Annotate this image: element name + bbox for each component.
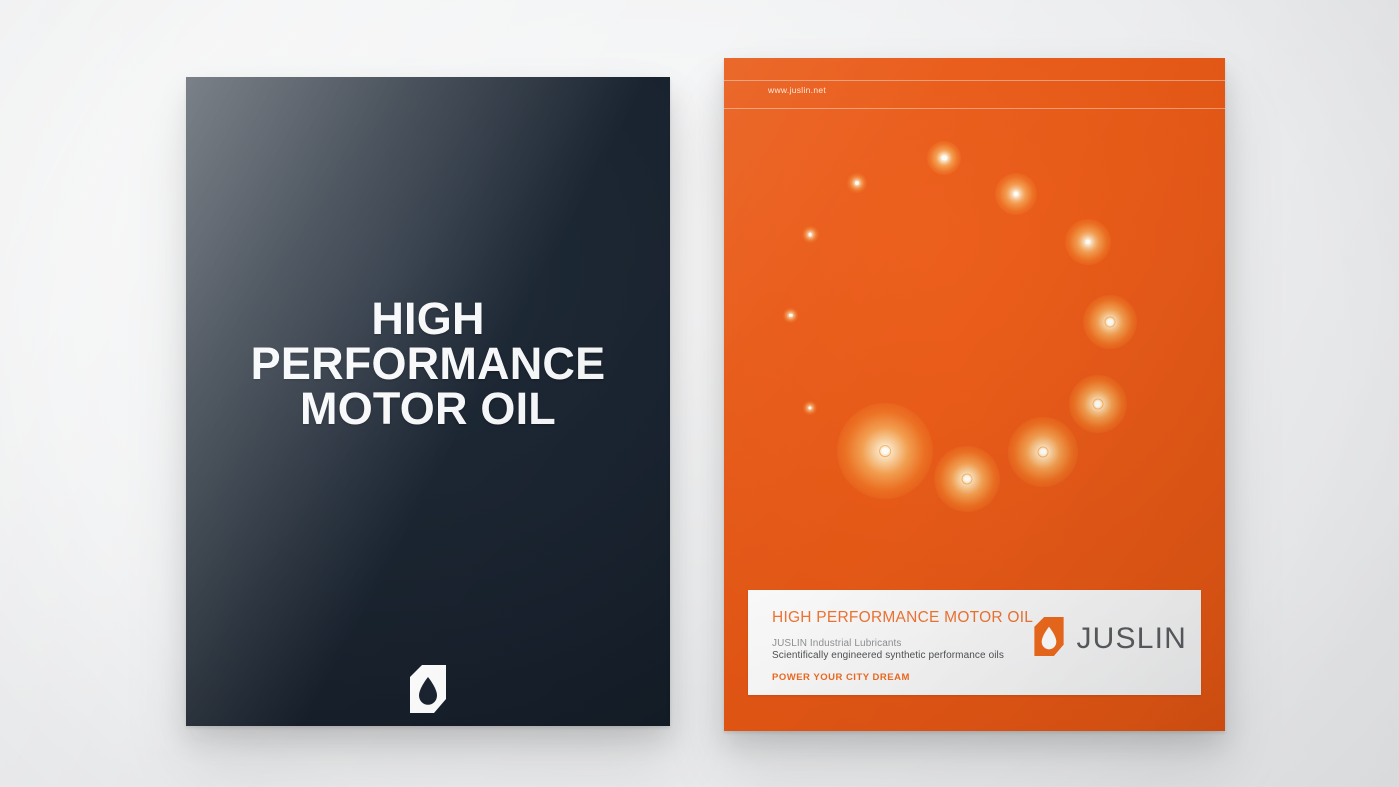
glow-dot	[1083, 295, 1137, 349]
glow-dot	[837, 403, 933, 499]
glow-dot	[803, 401, 817, 415]
glow-core	[965, 476, 971, 482]
glow-halo	[1069, 375, 1127, 433]
glow-core	[1095, 401, 1101, 407]
orange-brochure-cover[interactable]: www.juslin.net HIGH PERFORMANCE MOTOR OI…	[724, 58, 1225, 731]
glow-halo	[837, 403, 933, 499]
website-url[interactable]: www.juslin.net	[768, 85, 826, 95]
info-panel: HIGH PERFORMANCE MOTOR OIL JUSLIN Indust…	[748, 590, 1201, 695]
glow-dot	[1008, 417, 1078, 487]
dark-brochure-cover[interactable]: HIGH PERFORMANCE MOTOR OIL Juslin Advanc…	[186, 77, 670, 726]
glow-core	[1014, 191, 1019, 196]
dark-title-line-3: MOTOR OIL	[202, 386, 654, 431]
glow-core	[789, 313, 792, 316]
glow-ring	[879, 445, 891, 457]
glow-halo	[1065, 219, 1111, 265]
glow-core	[1085, 239, 1090, 244]
glow-halo	[934, 446, 1000, 512]
glow-core	[809, 406, 812, 409]
glow-ring	[1092, 398, 1103, 409]
juslin-droplet-icon	[1031, 617, 1067, 661]
juslin-logo: JUSLIN	[1031, 617, 1187, 661]
glow-ring	[962, 473, 973, 484]
glow-halo	[802, 226, 819, 243]
glow-ring	[1105, 317, 1116, 328]
glow-dot	[847, 173, 867, 193]
dark-cover-title: HIGH PERFORMANCE MOTOR OIL	[186, 296, 670, 431]
glow-halo	[1008, 417, 1078, 487]
glow-halo	[847, 173, 867, 193]
panel-subtitle-1: JUSLIN Industrial Lubricants	[772, 638, 902, 649]
glow-core	[1040, 449, 1046, 455]
panel-title: HIGH PERFORMANCE MOTOR OIL	[772, 609, 1033, 627]
juslin-wordmark: JUSLIN	[1076, 622, 1187, 656]
glow-core	[1107, 320, 1113, 326]
glow-halo	[783, 308, 798, 323]
header-rule-top	[724, 80, 1225, 81]
glow-dot	[1069, 375, 1127, 433]
glow-dot	[1065, 219, 1111, 265]
glow-halo	[1083, 295, 1137, 349]
glow-core	[882, 448, 888, 454]
header-rule-bottom	[724, 108, 1225, 109]
glow-dot	[995, 173, 1037, 215]
juslin-droplet-icon	[406, 665, 450, 713]
glow-core	[942, 155, 947, 160]
glow-dot	[783, 308, 798, 323]
glow-halo	[927, 141, 961, 175]
glow-halo	[995, 173, 1037, 215]
panel-subtitle-2: Scientifically engineered synthetic perf…	[772, 650, 1004, 661]
dark-title-line-2: PERFORMANCE	[202, 341, 654, 386]
glow-core	[855, 181, 859, 185]
scene: HIGH PERFORMANCE MOTOR OIL Juslin Advanc…	[0, 0, 1399, 787]
glow-dot	[934, 446, 1000, 512]
panel-slogan: POWER YOUR CITY DREAM	[772, 672, 910, 683]
glow-ring	[1038, 446, 1049, 457]
glow-dot	[927, 141, 961, 175]
glow-dot	[802, 226, 819, 243]
glow-halo	[803, 401, 817, 415]
glow-core	[808, 232, 812, 236]
dark-title-line-1: HIGH	[202, 296, 654, 341]
